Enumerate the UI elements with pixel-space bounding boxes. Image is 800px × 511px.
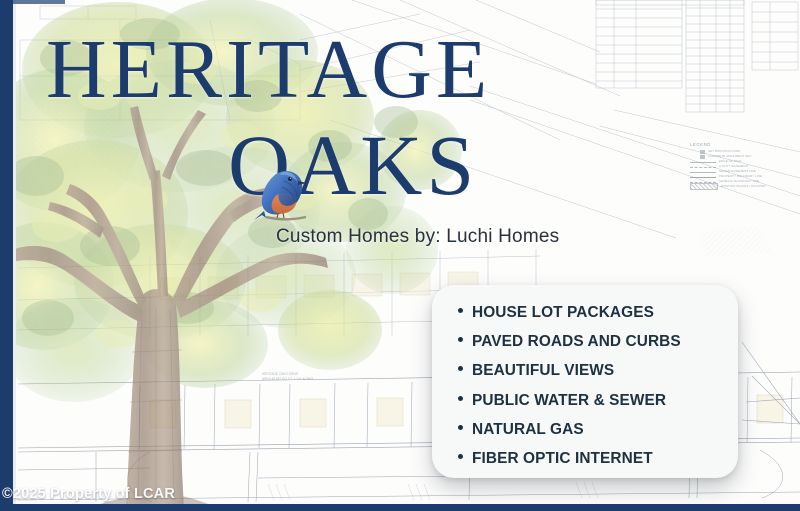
feature-label: BEAUTIFUL VIEWS <box>472 356 614 385</box>
left-border-bar <box>0 0 13 511</box>
list-item: PUBLIC WATER & SEWER <box>458 386 738 415</box>
features-panel: HOUSE LOT PACKAGES PAVED ROADS AND CURBS… <box>432 285 738 478</box>
feature-label: PAVED ROADS AND CURBS <box>472 327 681 356</box>
legend-key-line-icon <box>690 160 716 164</box>
marketing-banner: HERITAGE OAKS DRIVE AREA 48,822 SQ. FT. … <box>0 0 800 511</box>
legend-key-monument-icon <box>700 155 705 159</box>
legend-row: EXISTING WOODS / HATCHED <box>690 184 795 189</box>
legend-key-hatch-icon <box>690 183 718 190</box>
watercolor-oak-tree-illustration <box>0 0 470 511</box>
bullet-icon <box>458 337 463 342</box>
legend-label: EXISTING WOODS / HATCHED <box>721 184 766 189</box>
left-border-inner <box>13 0 16 511</box>
bullet-icon <box>458 425 463 430</box>
bullet-icon <box>458 366 463 371</box>
feature-label: NATURAL GAS <box>472 415 584 444</box>
feature-label: FIBER OPTIC INTERNET <box>472 444 653 473</box>
list-item: NATURAL GAS <box>458 415 738 444</box>
features-list: HOUSE LOT PACKAGES PAVED ROADS AND CURBS… <box>432 285 738 473</box>
list-item: FIBER OPTIC INTERNET <box>458 444 738 473</box>
legend-key-line-icon <box>690 170 716 174</box>
bluebird-icon <box>252 163 314 221</box>
legend-key-pin-icon <box>700 150 705 154</box>
bullet-icon <box>458 396 463 401</box>
plat-legend: LEGEND SET IRON PIN FOUND CONCRETE MONUM… <box>690 142 795 189</box>
feature-label: HOUSE LOT PACKAGES <box>472 298 654 327</box>
copyright-watermark: ©2025 Property of LCAR <box>2 486 175 502</box>
list-item: BEAUTIFUL VIEWS <box>458 356 738 385</box>
list-item: HOUSE LOT PACKAGES <box>458 298 738 327</box>
legend-title: LEGEND <box>690 142 795 147</box>
bottom-border-bar <box>0 504 800 511</box>
list-item: PAVED ROADS AND CURBS <box>458 327 738 356</box>
bullet-icon <box>458 308 463 313</box>
legend-key-dashed-icon <box>690 165 716 169</box>
bullet-icon <box>458 454 463 459</box>
feature-label: PUBLIC WATER & SEWER <box>472 386 666 415</box>
legend-key-thick-line-icon <box>690 175 716 179</box>
top-edge-accent <box>13 0 65 4</box>
